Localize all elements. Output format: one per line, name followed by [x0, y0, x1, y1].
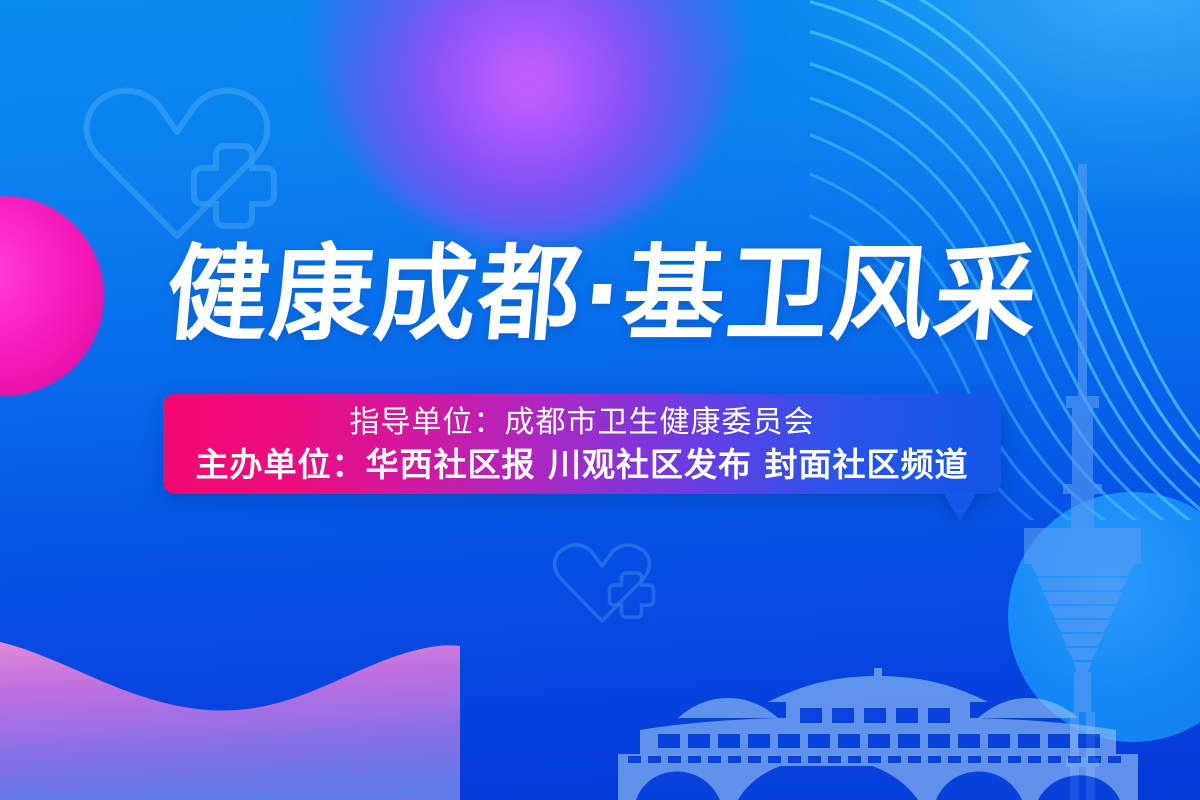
magenta-circle-blob — [0, 196, 104, 396]
poster-canvas: 健康成都·基卫风采 指导单位：成都市卫生健康委员会 主办单位：华西社区报 川观社… — [0, 0, 1200, 800]
heart-plus-icon — [548, 540, 656, 626]
organizing-unit-line: 主办单位：华西社区报 川观社区发布 封面社区频道 — [196, 443, 969, 487]
page-title: 健康成都·基卫风采 — [158, 236, 1038, 352]
pale-light-wedge — [780, 0, 1200, 210]
violet-glow-blob — [318, 0, 738, 242]
anshun-bridge-icon — [618, 668, 1138, 800]
main-title-text: 健康成都·基卫风采 — [162, 242, 1043, 346]
purple-wave-decoration — [0, 600, 460, 800]
banner-tail-pointer — [943, 492, 977, 522]
guiding-unit-line: 指导单位：成都市卫生健康委员会 — [350, 402, 815, 443]
heart-plus-icon — [74, 84, 280, 244]
cyan-circle-blob — [1008, 492, 1200, 742]
organizer-banner: 指导单位：成都市卫生健康委员会 主办单位：华西社区报 川观社区发布 封面社区频道 — [163, 394, 1001, 494]
